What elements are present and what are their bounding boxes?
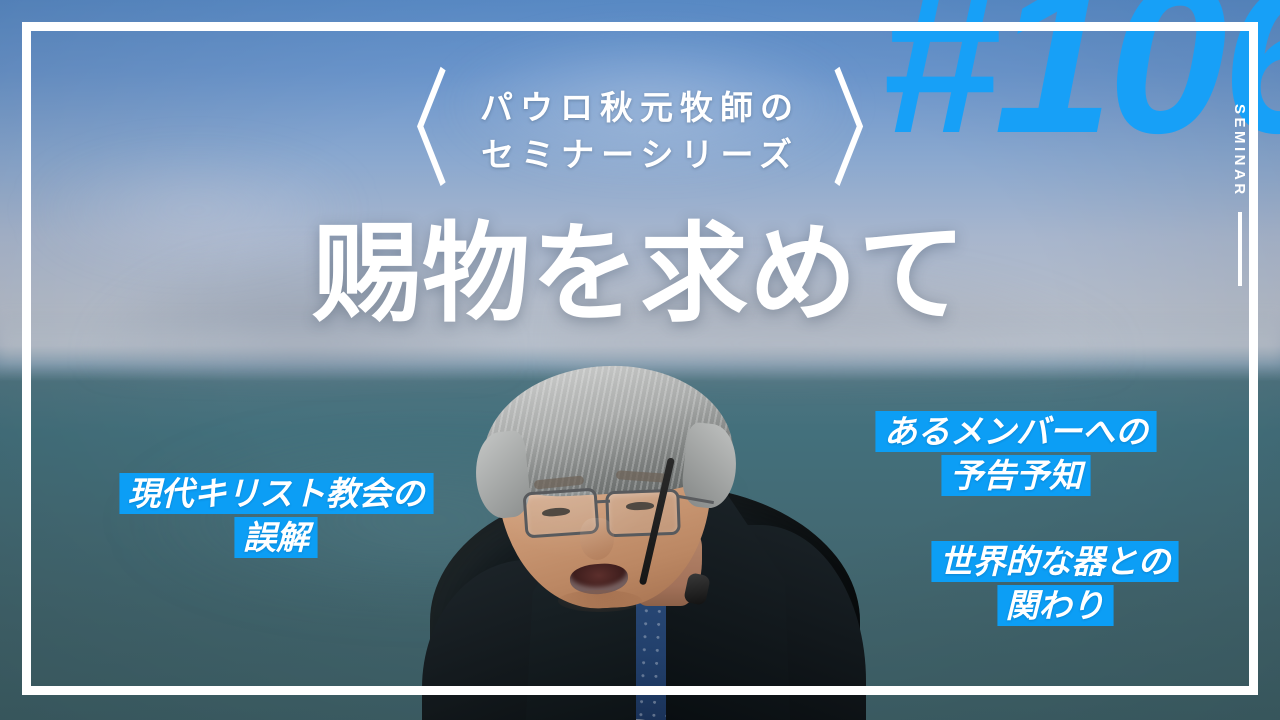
seminar-vertical-label: SEMINAR xyxy=(1232,104,1247,286)
speaker-portrait xyxy=(430,350,860,720)
caption-prophecy-to-a-member: あるメンバーへの 予告予知 xyxy=(840,410,1192,497)
series-subtitle-line-1: パウロ秋元牧師の xyxy=(480,85,800,132)
angle-bracket-right-icon: 〉 xyxy=(830,68,909,196)
thumbnail-canvas: #106 〈 パウロ秋元牧師の セ xyxy=(0,0,1280,720)
caption-bottom-line-1: 世界的な器との xyxy=(940,541,1171,582)
series-subtitle: 〈 パウロ秋元牧師の セミナーシリーズ 〉 xyxy=(300,72,980,192)
speaker-chin-shadow xyxy=(558,590,642,612)
caption-top-line-2: 予告予知 xyxy=(950,455,1082,496)
series-subtitle-line-2: セミナーシリーズ xyxy=(480,132,800,179)
angle-bracket-left-icon: 〈 xyxy=(370,68,449,196)
glasses-lens-right xyxy=(605,489,681,538)
page-title: 赐物を求めて xyxy=(0,216,1280,333)
seminar-vertical-text: SEMINAR xyxy=(1232,104,1247,198)
series-subtitle-lines: パウロ秋元牧師の セミナーシリーズ xyxy=(470,85,810,179)
caption-bottom-line-2: 関わり xyxy=(1006,585,1105,626)
caption-left-line-2: 誤解 xyxy=(243,517,309,558)
speaker-nose xyxy=(580,518,614,560)
caption-modern-church-misunderstanding: 現代キリスト教会の 誤解 xyxy=(88,472,464,559)
caption-relation-with-global-vessel: 世界的な器との 関わり xyxy=(896,540,1214,627)
caption-top-line-1: あるメンバーへの xyxy=(884,411,1148,452)
seminar-vertical-rule xyxy=(1238,212,1242,286)
caption-left-line-1: 現代キリスト教会の xyxy=(128,473,425,514)
